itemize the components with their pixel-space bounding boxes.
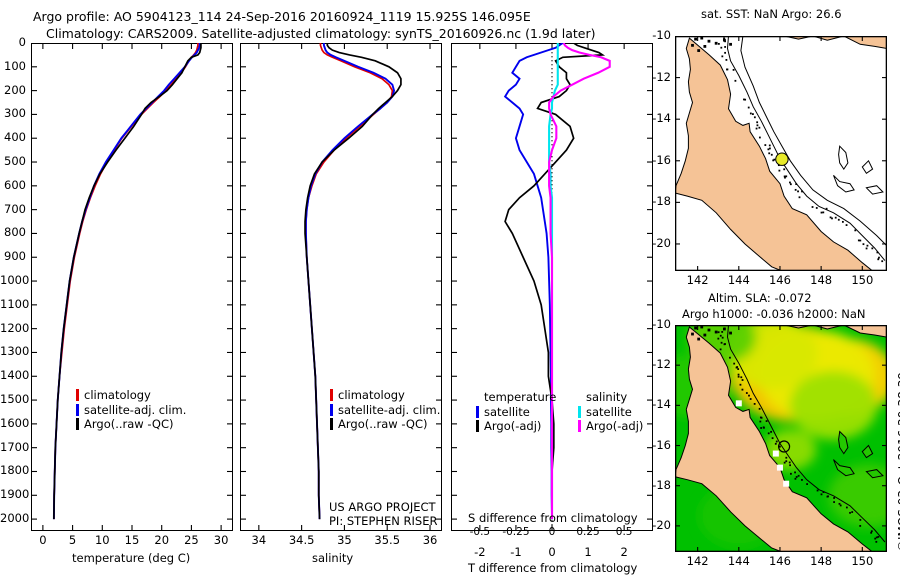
legend-item: Argo(-adj) bbox=[578, 419, 643, 434]
figure-title-line1: Argo profile: AO 5904123_114 24-Sep-2016… bbox=[33, 9, 531, 24]
legend-item: satellite-adj. clim. bbox=[76, 403, 186, 418]
tick-label: 142 bbox=[682, 554, 714, 568]
legend-color-swatch-icon bbox=[330, 418, 333, 430]
temperature-xtick-labels: 051015202530 bbox=[31, 533, 233, 549]
tick-label: 400 bbox=[0, 130, 26, 144]
tick-label: -20 bbox=[645, 236, 671, 250]
tick-label: 0 bbox=[536, 545, 568, 559]
tick-label: 0 bbox=[0, 35, 26, 49]
sst-map-panel bbox=[675, 36, 887, 271]
legend-label: Argo(..raw -QC) bbox=[338, 417, 428, 431]
temperature-ytick-labels: 0100200300400500600700800900100011001200… bbox=[0, 43, 29, 533]
tick-label: 142 bbox=[682, 273, 714, 287]
difference-panel bbox=[451, 43, 653, 531]
legend-label: climatology bbox=[338, 388, 405, 402]
tick-label: -12 bbox=[645, 70, 671, 84]
legend-color-swatch-icon bbox=[76, 404, 79, 416]
imos-credit: ©IMOS 03-Oct-2016 20:38:39 bbox=[896, 372, 900, 552]
tick-label: 1300 bbox=[0, 344, 26, 358]
salinity-xtick-labels: 3434.53535.536 bbox=[240, 533, 442, 549]
tick-label: -10 bbox=[645, 317, 671, 331]
tick-label: 144 bbox=[723, 554, 755, 568]
tick-label: -14 bbox=[645, 397, 671, 411]
tick-label: 5 bbox=[59, 533, 87, 547]
tick-label: 700 bbox=[0, 202, 26, 216]
tick-label: 1200 bbox=[0, 321, 26, 335]
temperature-profile-curves bbox=[31, 43, 233, 531]
sla-map-graphic bbox=[675, 325, 887, 552]
legend-color-swatch-icon bbox=[330, 389, 333, 401]
temperature-panel bbox=[31, 43, 233, 531]
temperature-axis-label: temperature (deg C) bbox=[72, 551, 190, 565]
legend-label: satellite bbox=[586, 405, 632, 419]
tick-label: 600 bbox=[0, 178, 26, 192]
tick-label: -18 bbox=[645, 194, 671, 208]
sla-map-xtick-labels: 142144146148150 bbox=[675, 554, 887, 570]
tick-label: 1400 bbox=[0, 368, 26, 382]
temperature-legend: climatologysatellite-adj. clim.Argo(..ra… bbox=[76, 388, 186, 432]
sst-map-graphic bbox=[675, 36, 887, 271]
sla-sample-marker bbox=[736, 400, 742, 406]
tick-label: 2 bbox=[608, 545, 640, 559]
sst-map-title: sat. SST: NaN Argo: 26.6 bbox=[701, 7, 842, 21]
tick-label: 20 bbox=[148, 533, 176, 547]
project-line1: US ARGO PROJECT bbox=[329, 500, 436, 514]
legend-item: satellite bbox=[578, 405, 643, 420]
tick-label: -16 bbox=[645, 438, 671, 452]
legend-item: climatology bbox=[330, 388, 440, 403]
tick-label: 1800 bbox=[0, 463, 26, 477]
sst-map-ytick-labels: -10-12-14-16-18-20 bbox=[645, 36, 673, 272]
legend-color-swatch-icon bbox=[476, 420, 479, 432]
tick-label: 148 bbox=[805, 554, 837, 568]
tick-label: 144 bbox=[723, 273, 755, 287]
tick-label: 1700 bbox=[0, 440, 26, 454]
tick-label: 150 bbox=[846, 554, 878, 568]
tick-label: 34 bbox=[241, 533, 277, 547]
sla-map-ytick-labels: -10-12-14-16-18-20 bbox=[645, 325, 673, 553]
legend-label: Argo(-adj) bbox=[484, 419, 541, 433]
tick-label: 300 bbox=[0, 106, 26, 120]
argo-float-marker bbox=[776, 153, 788, 165]
tick-label: 36 bbox=[412, 533, 448, 547]
tick-label: 148 bbox=[805, 273, 837, 287]
difference-top-tick-labels: -0.5-0.2500.250.5 bbox=[451, 526, 653, 540]
salinity-profile-curves bbox=[240, 43, 442, 531]
legend-label: Argo(-adj) bbox=[586, 419, 643, 433]
legend-item: climatology bbox=[76, 388, 186, 403]
figure-title-line2: Climatology: CARS2009. Satellite-adjuste… bbox=[46, 26, 596, 41]
legend-item: Argo(..raw -QC) bbox=[330, 417, 440, 432]
tick-label: 0 bbox=[532, 526, 572, 538]
tick-label: 1100 bbox=[0, 297, 26, 311]
tick-label: 35 bbox=[326, 533, 362, 547]
legend-header: temperature bbox=[484, 390, 556, 405]
sst-map-xtick-labels: 142144146148150 bbox=[675, 273, 887, 289]
tick-label: 800 bbox=[0, 225, 26, 239]
tick-label: -18 bbox=[645, 478, 671, 492]
sla-map-title-line1: Altim. SLA: -0.072 bbox=[708, 291, 812, 305]
tick-label: 34.5 bbox=[284, 533, 320, 547]
tick-label: -14 bbox=[645, 111, 671, 125]
difference-legend-salinity: salinitysatelliteArgo(-adj) bbox=[578, 390, 643, 434]
legend-item: Argo(..raw -QC) bbox=[76, 417, 186, 432]
tick-label: 0.25 bbox=[568, 526, 608, 538]
tick-label: -2 bbox=[464, 545, 496, 559]
tick-label: -16 bbox=[645, 153, 671, 167]
tick-label: 200 bbox=[0, 83, 26, 97]
tick-label: 1000 bbox=[0, 273, 26, 287]
tick-label: 150 bbox=[846, 273, 878, 287]
sla-sample-marker bbox=[783, 481, 789, 487]
tick-label: 30 bbox=[207, 533, 235, 547]
legend-label: satellite-adj. clim. bbox=[84, 403, 186, 417]
legend-label: climatology bbox=[84, 388, 151, 402]
legend-label: Argo(..raw -QC) bbox=[84, 417, 174, 431]
sla-sample-marker bbox=[773, 451, 779, 457]
difference-salinity-axis-label: S difference from climatology bbox=[468, 511, 638, 525]
legend-color-swatch-icon bbox=[330, 404, 333, 416]
difference-temperature-axis-label: T difference from climatology bbox=[468, 561, 637, 575]
legend-label: satellite-adj. clim. bbox=[338, 403, 440, 417]
salinity-panel bbox=[240, 43, 442, 531]
difference-legend-temperature: temperaturesatelliteArgo(-adj) bbox=[476, 390, 556, 434]
legend-color-swatch-icon bbox=[578, 420, 581, 432]
tick-label: 900 bbox=[0, 249, 26, 263]
tick-label: 35.5 bbox=[369, 533, 405, 547]
tick-label: -10 bbox=[645, 28, 671, 42]
tick-label: -20 bbox=[645, 518, 671, 532]
tick-label: -0.5 bbox=[460, 526, 500, 538]
tick-label: 1900 bbox=[0, 487, 26, 501]
tick-label: 146 bbox=[764, 554, 796, 568]
difference-bottom-tick-labels: -2-1012 bbox=[451, 545, 653, 559]
sla-map-panel bbox=[675, 325, 887, 552]
tick-label: 10 bbox=[88, 533, 116, 547]
tick-label: 1500 bbox=[0, 392, 26, 406]
project-line2: PI: STEPHEN RISER bbox=[329, 514, 438, 528]
tick-label: 500 bbox=[0, 154, 26, 168]
tick-label: 0.5 bbox=[604, 526, 644, 538]
legend-color-swatch-icon bbox=[476, 406, 479, 418]
tick-label: 1600 bbox=[0, 416, 26, 430]
difference-profile-curves bbox=[451, 43, 653, 531]
tick-label: -12 bbox=[645, 357, 671, 371]
tick-label: 25 bbox=[177, 533, 205, 547]
legend-header: salinity bbox=[586, 390, 643, 405]
tick-label: 100 bbox=[0, 59, 26, 73]
legend-label: satellite bbox=[484, 405, 530, 419]
tick-label: -0.25 bbox=[496, 526, 536, 538]
legend-color-swatch-icon bbox=[578, 406, 581, 418]
legend-item: Argo(-adj) bbox=[476, 419, 556, 434]
tick-label: 0 bbox=[29, 533, 57, 547]
tick-label: 2000 bbox=[0, 511, 26, 525]
salinity-legend: climatologysatellite-adj. clim.Argo(..ra… bbox=[330, 388, 440, 432]
tick-label: 1 bbox=[572, 545, 604, 559]
legend-color-swatch-icon bbox=[76, 418, 79, 430]
legend-item: satellite-adj. clim. bbox=[330, 403, 440, 418]
legend-item: satellite bbox=[476, 405, 556, 420]
legend-color-swatch-icon bbox=[76, 389, 79, 401]
tick-label: 15 bbox=[118, 533, 146, 547]
salinity-axis-label: salinity bbox=[312, 551, 353, 565]
sla-map-title-line2: Argo h1000: -0.036 h2000: NaN bbox=[682, 307, 866, 321]
tick-label: 146 bbox=[764, 273, 796, 287]
sla-sample-marker bbox=[777, 465, 783, 471]
tick-label: -1 bbox=[500, 545, 532, 559]
